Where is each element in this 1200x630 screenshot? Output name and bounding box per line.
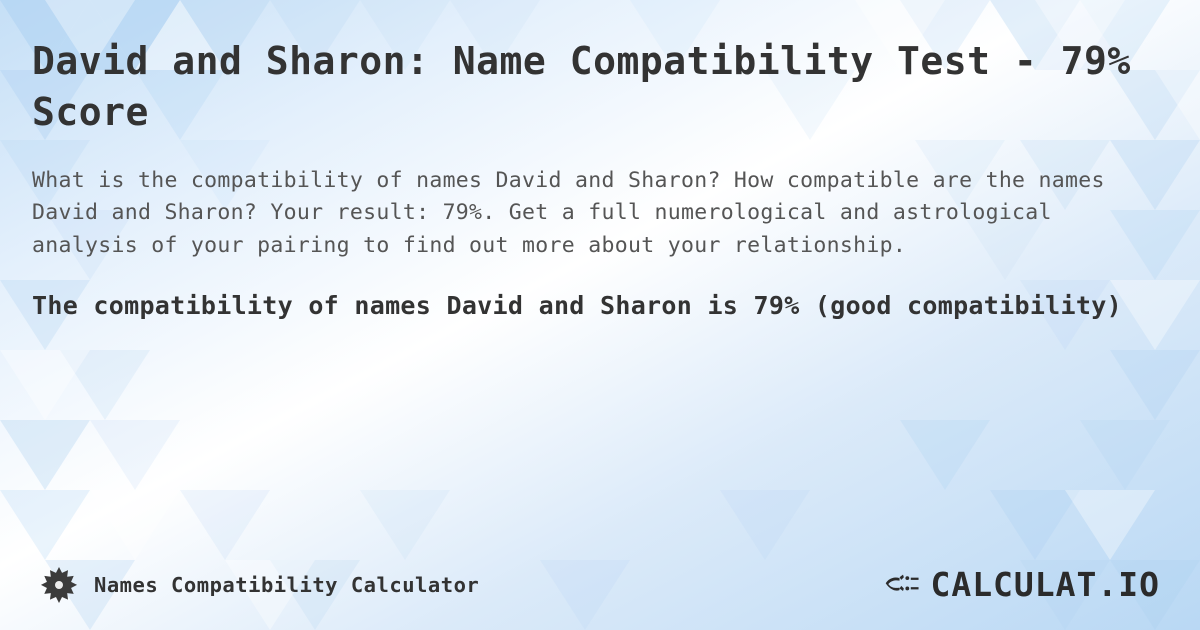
star-burst-icon <box>40 566 78 604</box>
page-title: David and Sharon: Name Compatibility Tes… <box>32 36 1132 139</box>
page-root: David and Sharon: Name Compatibility Tes… <box>0 0 1200 630</box>
brand-text: CALCULAT.IO <box>930 565 1160 604</box>
footer: Names Compatibility Calculator CALCULAT.… <box>0 565 1200 604</box>
brand-logo[interactable]: CALCULAT.IO <box>884 565 1160 604</box>
footer-brand-group: Names Compatibility Calculator <box>40 566 479 604</box>
page-description: What is the compatibility of names David… <box>32 165 1167 263</box>
calculator-hand-icon <box>884 569 922 601</box>
footer-label: Names Compatibility Calculator <box>94 573 479 597</box>
main-content: David and Sharon: Name Compatibility Tes… <box>0 0 1200 630</box>
compatibility-result: The compatibility of names David and Sha… <box>32 287 1167 325</box>
